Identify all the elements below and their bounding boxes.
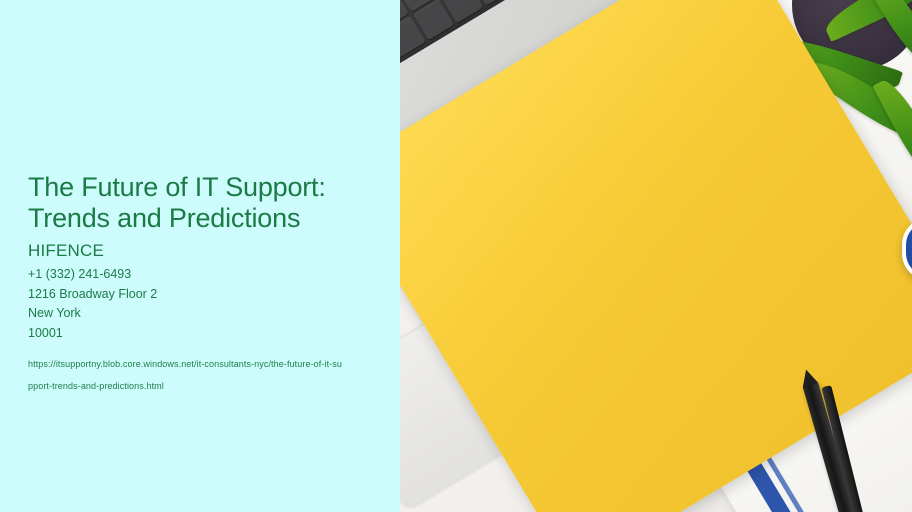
left-info-panel: The Future of IT Support: Trends and Pre…: [0, 0, 400, 512]
brand-name: HIFENCE: [28, 240, 358, 262]
hero-image: MINCSALF FNRTIA HRCDALIAT CPIVY FF: [400, 0, 912, 512]
city-name: New York: [28, 304, 358, 324]
phone-number[interactable]: +1 (332) 241-6493: [28, 265, 358, 285]
text-block: The Future of IT Support: Trends and Pre…: [28, 172, 358, 397]
banner-primary: MINCSALF FNRTIA: [902, 217, 912, 281]
street-address: 1216 Broadway Floor 2: [28, 285, 358, 305]
postal-code: 10001: [28, 324, 358, 344]
page-root: The Future of IT Support: Trends and Pre…: [0, 0, 912, 512]
page-title: The Future of IT Support: Trends and Pre…: [28, 172, 333, 234]
article-url[interactable]: https://itsupportny.blob.core.windows.ne…: [28, 353, 346, 397]
